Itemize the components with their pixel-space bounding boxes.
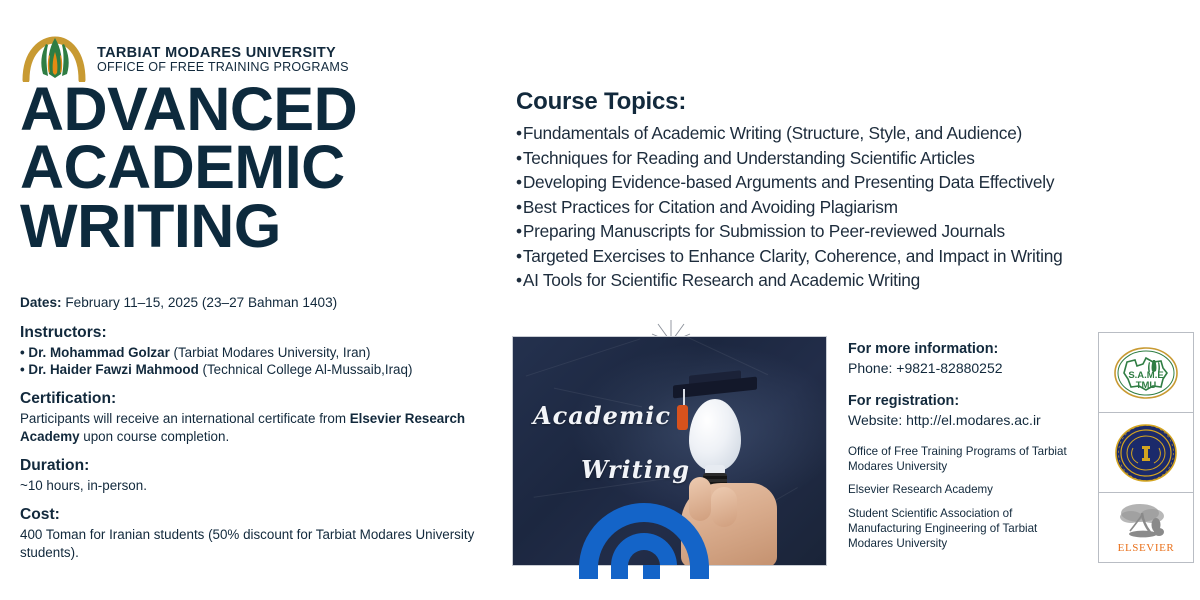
- lightbulb-icon: [689, 399, 741, 471]
- spacer: [848, 377, 1078, 392]
- registration-heading: For registration:: [848, 392, 1078, 411]
- bullet-icon: •: [516, 172, 522, 192]
- course-details: Dates: February 11–15, 2025 (23–27 Bahma…: [20, 294, 510, 561]
- topic-label: Preparing Manuscripts for Submission to …: [523, 221, 1005, 241]
- chalk-text-line-2: Writing: [581, 455, 690, 484]
- elsevier-badge: ELSEVIER: [1098, 493, 1194, 563]
- arch-leg: [579, 565, 598, 579]
- partner-logos: S.A.M.E TMU: [1098, 332, 1194, 563]
- instructor-1-name: • Dr. Mohammad Golzar: [20, 345, 170, 360]
- course-topics-section: Course Topics: •Fundamentals of Academic…: [516, 88, 1200, 293]
- page-title: ADVANCED ACADEMIC WRITING: [20, 80, 520, 255]
- registration-website[interactable]: Website: http://el.modares.ac.ir: [848, 411, 1078, 429]
- dates-label: Dates:: [20, 295, 62, 310]
- topic-item: •Fundamentals of Academic Writing (Struc…: [516, 121, 1200, 146]
- organizer-item: Elsevier Research Academy: [848, 483, 1078, 498]
- instructors-label: Instructors:: [20, 323, 510, 343]
- topic-item: •Preparing Manuscripts for Submission to…: [516, 219, 1200, 244]
- tassel-icon: [677, 405, 688, 430]
- elsevier-wordmark: ELSEVIER: [1118, 542, 1175, 554]
- topic-label: Fundamentals of Academic Writing (Struct…: [523, 123, 1022, 143]
- topic-label: Best Practices for Citation and Avoiding…: [523, 197, 898, 217]
- instructor-row-2: • Dr. Haider Fawzi Mahmood (Technical Co…: [20, 361, 510, 378]
- finger-icon: [689, 477, 711, 521]
- topic-item: •Techniques for Reading and Understandin…: [516, 146, 1200, 171]
- topic-item: •Targeted Exercises to Enhance Clarity, …: [516, 244, 1200, 269]
- elsevier-tree-icon: [1118, 501, 1174, 541]
- dates-value: February 11–15, 2025 (23–27 Bahman 1403): [65, 295, 337, 310]
- topic-label: Targeted Exercises to Enhance Clarity, C…: [523, 246, 1063, 266]
- title-line-2: ACADEMIC: [20, 138, 520, 196]
- topic-label: Techniques for Reading and Understanding…: [523, 148, 975, 168]
- blue-arch-legs: [579, 565, 709, 579]
- cost-block: Cost: 400 Toman for Iranian students (50…: [20, 505, 510, 561]
- instructor-2-name: • Dr. Haider Fawzi Mahmood: [20, 362, 199, 377]
- same-tmu-seal-badge: S.A.M.E TMU: [1098, 332, 1194, 413]
- title-line-1: ADVANCED: [20, 80, 520, 138]
- arch-leg: [643, 565, 660, 579]
- certification-label: Certification:: [20, 389, 510, 409]
- instructor-2-affiliation: (Technical College Al-Mussaib,Iraq): [203, 362, 413, 377]
- brand-text: TARBIAT MODARES UNIVERSITY OFFICE OF FRE…: [97, 44, 349, 75]
- arch-leg: [611, 565, 628, 579]
- topic-item: •Developing Evidence-based Arguments and…: [516, 170, 1200, 195]
- bullet-icon: •: [516, 246, 522, 266]
- cost-label: Cost:: [20, 505, 510, 525]
- al-mussaib-technical-college-seal-icon: [1115, 424, 1177, 482]
- certification-text-part2: upon course completion.: [80, 429, 230, 444]
- topic-item: •AI Tools for Scientific Research and Ac…: [516, 268, 1200, 293]
- instructors-block: Instructors: • Dr. Mohammad Golzar (Tarb…: [20, 323, 510, 379]
- duration-block: Duration: ~10 hours, in-person.: [20, 456, 510, 494]
- course-topics-heading: Course Topics:: [516, 88, 1200, 116]
- chalkboard-photo: Academic Writing: [513, 337, 826, 565]
- brand-office-name: OFFICE OF FREE TRAINING PROGRAMS: [97, 61, 349, 74]
- instructor-1-affiliation: (Tarbiat Modares University, Iran): [174, 345, 371, 360]
- poster-canvas: TARBIAT MODARES UNIVERSITY OFFICE OF FRE…: [0, 0, 1200, 600]
- brand-university-name: TARBIAT MODARES UNIVERSITY: [97, 46, 349, 61]
- topic-item: •Best Practices for Citation and Avoidin…: [516, 195, 1200, 220]
- arch-leg: [690, 565, 709, 579]
- cost-value: 400 Toman for Iranian students (50% disc…: [20, 527, 474, 559]
- bullet-icon: •: [516, 270, 522, 290]
- certification-text-part1: Participants will receive an internation…: [20, 411, 350, 426]
- more-information-heading: For more information:: [848, 340, 1078, 359]
- bullet-icon: •: [516, 148, 522, 168]
- contact-section: For more information: Phone: +9821-82880…: [848, 340, 1078, 552]
- course-photo: Academic Writing: [513, 337, 826, 565]
- bullet-icon: •: [516, 221, 522, 241]
- organizers-list: Office of Free Training Programs of Tarb…: [848, 445, 1078, 552]
- dates-block: Dates: February 11–15, 2025 (23–27 Bahma…: [20, 294, 510, 312]
- instructor-row-1: • Dr. Mohammad Golzar (Tarbiat Modares U…: [20, 344, 510, 361]
- topic-label: AI Tools for Scientific Research and Aca…: [523, 270, 920, 290]
- al-mussaib-seal-badge: [1098, 413, 1194, 493]
- topic-label: Developing Evidence-based Arguments and …: [523, 172, 1054, 192]
- certification-block: Certification: Participants will receive…: [20, 389, 510, 445]
- finger-icon: [711, 487, 737, 527]
- phone-number: Phone: +9821-82880252: [848, 359, 1078, 377]
- organizer-item: Student Scientific Association of Manufa…: [848, 507, 1078, 551]
- bullet-icon: •: [516, 123, 522, 143]
- same-tmu-seal-icon: S.A.M.E TMU: [1113, 346, 1179, 400]
- organizer-item: Office of Free Training Programs of Tarb…: [848, 445, 1078, 475]
- bullet-icon: •: [516, 197, 522, 217]
- duration-value: ~10 hours, in-person.: [20, 478, 147, 493]
- chalk-text-line-1: Academic: [533, 401, 671, 430]
- title-line-3: WRITING: [20, 197, 520, 255]
- duration-label: Duration:: [20, 456, 510, 476]
- tmu-text: TMU: [1136, 380, 1157, 391]
